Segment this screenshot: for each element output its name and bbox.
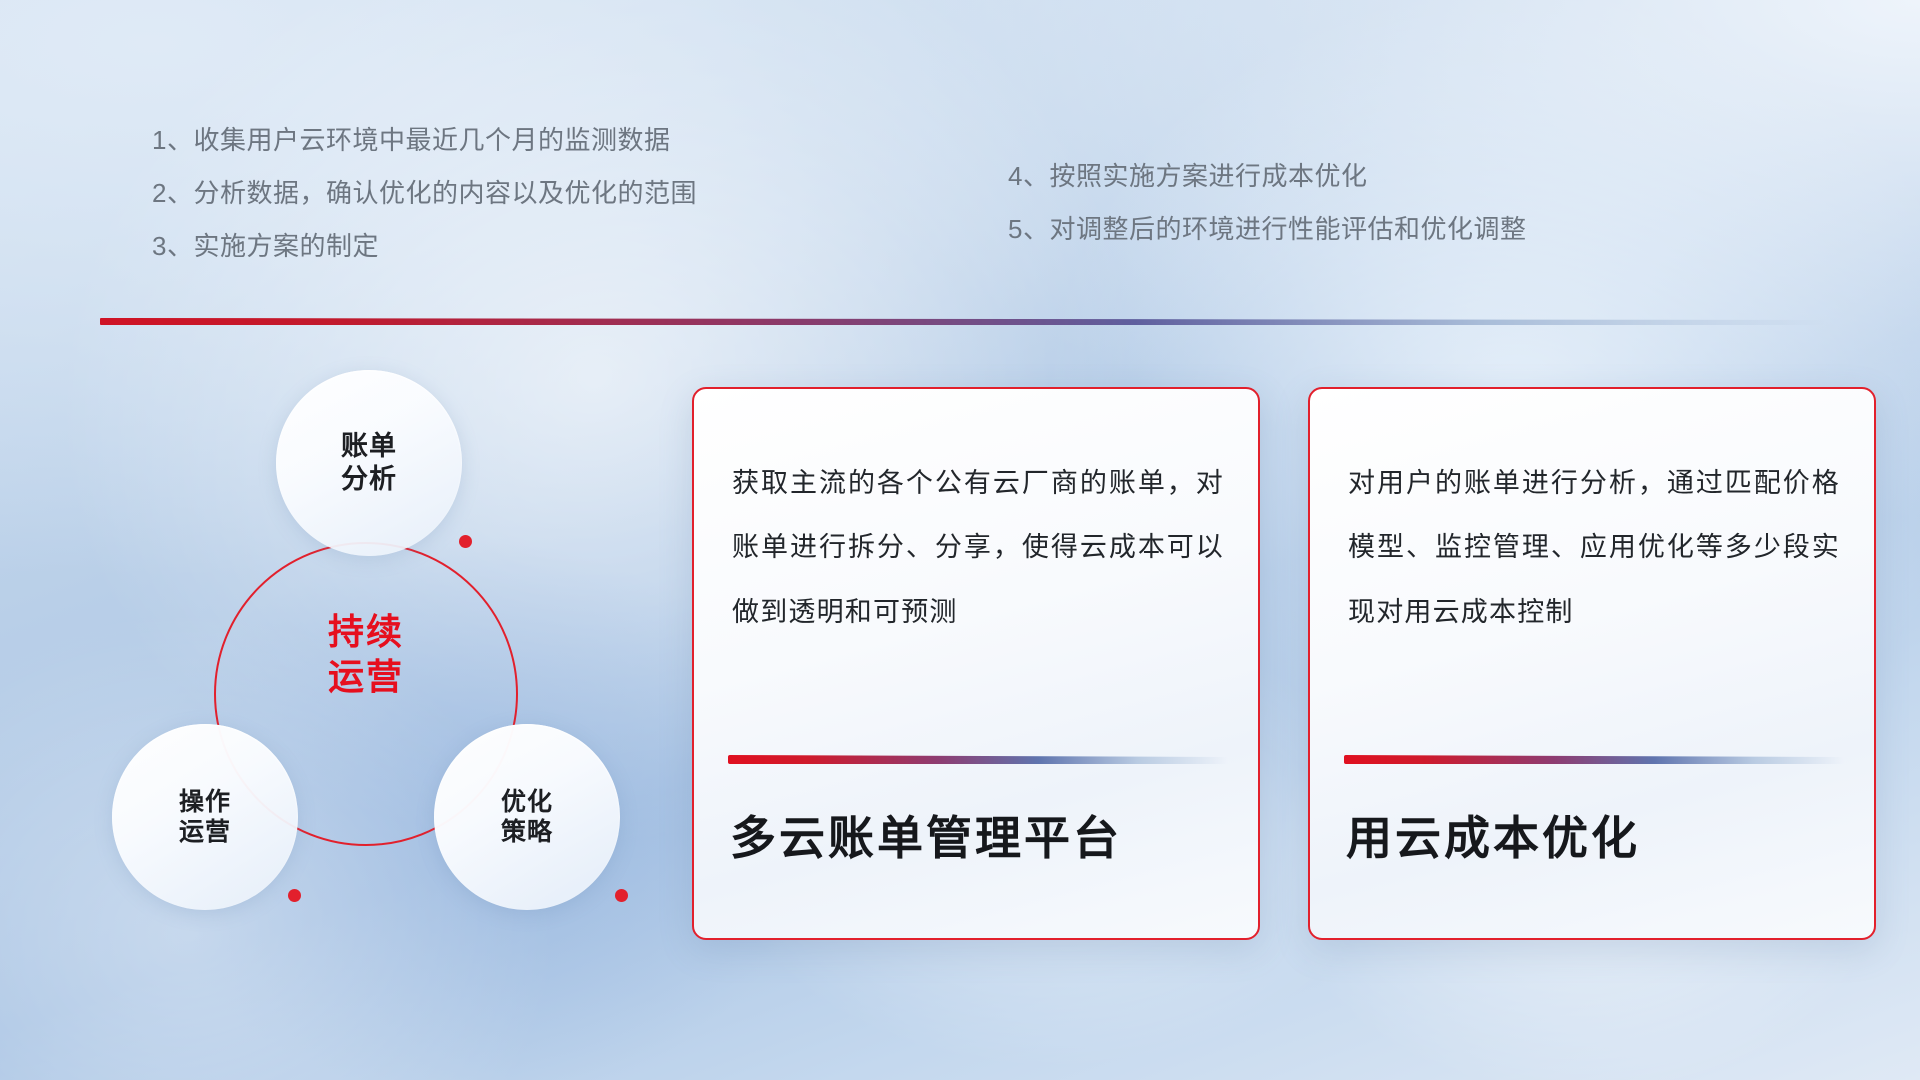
node-label-line1: 操作	[179, 787, 231, 818]
node-label-line1: 账单	[341, 430, 397, 463]
diagram-connector-dot-top-icon	[459, 535, 472, 548]
center-label-line2: 运营	[214, 655, 518, 700]
info-card-cloud-cost-optimization[interactable]: 对用户的账单进行分析，通过匹配价格模型、监控管理、应用优化等多少段实现对用云成本…	[1308, 387, 1876, 940]
step-item-3: 3、实施方案的制定	[152, 233, 697, 259]
step-item-1: 1、收集用户云环境中最近几个月的监测数据	[152, 127, 697, 153]
node-label-line2: 分析	[341, 463, 397, 496]
diagram-center-label: 持续 运营	[214, 610, 518, 699]
card-title: 用云成本优化	[1346, 811, 1640, 866]
card-title: 多云账单管理平台	[730, 811, 1122, 866]
diagram-node-billing-analysis[interactable]: 账单 分析	[276, 370, 462, 556]
slide-canvas: 1、收集用户云环境中最近几个月的监测数据 2、分析数据，确认优化的内容以及优化的…	[0, 0, 1920, 1080]
node-label-line2: 运营	[179, 817, 231, 848]
diagram-node-operations[interactable]: 操作 运营	[112, 724, 298, 910]
step-item-4: 4、按照实施方案进行成本优化	[1008, 163, 1526, 189]
center-label-line1: 持续	[214, 610, 518, 655]
step-item-2: 2、分析数据，确认优化的内容以及优化的范围	[152, 180, 697, 206]
card-body-text: 对用户的账单进行分析，通过匹配价格模型、监控管理、应用优化等多少段实现对用云成本…	[1348, 451, 1840, 644]
node-label-line2: 策略	[501, 817, 553, 848]
steps-left-column: 1、收集用户云环境中最近几个月的监测数据 2、分析数据，确认优化的内容以及优化的…	[152, 127, 697, 259]
diagram-connector-dot-right-icon	[615, 889, 628, 902]
node-label-line1: 优化	[501, 787, 553, 818]
steps-right-column: 4、按照实施方案进行成本优化 5、对调整后的环境进行性能评估和优化调整	[1008, 163, 1526, 242]
card-body-text: 获取主流的各个公有云厂商的账单，对账单进行拆分、分享，使得云成本可以做到透明和可…	[732, 451, 1224, 644]
step-item-5: 5、对调整后的环境进行性能评估和优化调整	[1008, 216, 1526, 242]
card-divider	[1344, 755, 1844, 764]
info-card-multi-cloud-billing-platform[interactable]: 获取主流的各个公有云厂商的账单，对账单进行拆分、分享，使得云成本可以做到透明和可…	[692, 387, 1260, 940]
continuous-operations-diagram: 账单 分析 操作 运营 优化 策略 持续 运营	[96, 352, 666, 952]
diagram-node-optimization-strategy[interactable]: 优化 策略	[434, 724, 620, 910]
diagram-connector-dot-left-icon	[288, 889, 301, 902]
card-divider	[728, 755, 1228, 764]
